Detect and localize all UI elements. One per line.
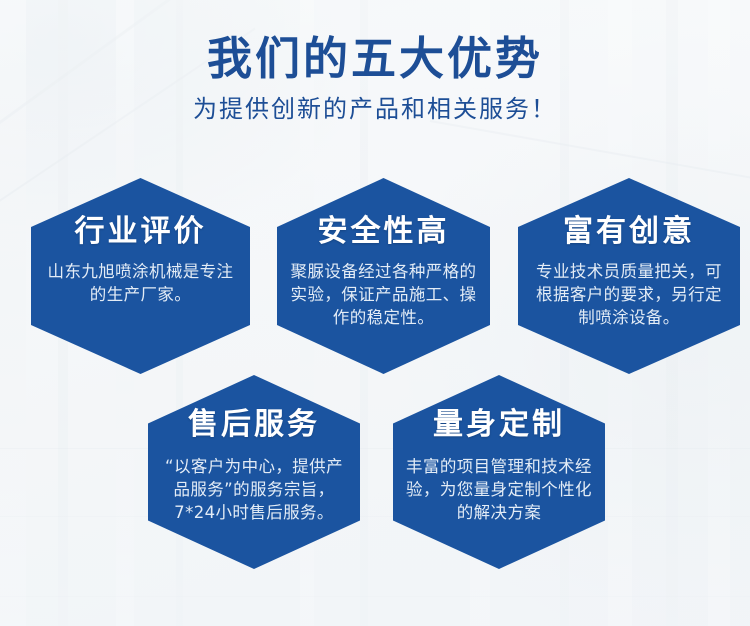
- advantage-hexagon-3[interactable]: 富有创意 专业技术员质量把关，可根据客户的要求，另行定制喷涂设备。: [518, 178, 740, 374]
- page-subtitle: 为提供创新的产品和相关服务！: [0, 96, 750, 122]
- page-title: 我们的五大优势: [0, 34, 750, 84]
- advantage-body: 聚脲设备经过各种严格的实验，保证产品施工、操作的稳定性。: [277, 260, 490, 330]
- advantage-title: 行业评价: [75, 216, 207, 248]
- advantage-body: “以客户为中心，提供产品服务”的服务宗旨，7*24小时售后服务。: [148, 455, 360, 525]
- advantage-title: 富有创意: [563, 216, 695, 248]
- advantage-body: 山东九旭喷涂机械是专注的生产厂家。: [31, 260, 250, 307]
- advantage-hexagon-5[interactable]: 量身定制 丰富的项目管理和技术经验，为您量身定制个性化的解决方案: [393, 375, 605, 569]
- advantage-hexagon-1[interactable]: 行业评价 山东九旭喷涂机械是专注的生产厂家。: [31, 178, 250, 374]
- advantage-hexagon-2[interactable]: 安全性高 聚脲设备经过各种严格的实验，保证产品施工、操作的稳定性。: [277, 178, 490, 374]
- advantages-section: 我们的五大优势 为提供创新的产品和相关服务！ 行业评价 山东九旭喷涂机械是专注的…: [0, 0, 750, 626]
- advantage-hexagon-4[interactable]: 售后服务 “以客户为中心，提供产品服务”的服务宗旨，7*24小时售后服务。: [148, 375, 360, 569]
- advantage-body: 专业技术员质量把关，可根据客户的要求，另行定制喷涂设备。: [518, 260, 740, 330]
- advantage-title: 安全性高: [318, 216, 450, 248]
- advantage-title: 售后服务: [188, 409, 320, 441]
- section-heading: 我们的五大优势 为提供创新的产品和相关服务！: [0, 34, 750, 122]
- advantage-body: 丰富的项目管理和技术经验，为您量身定制个性化的解决方案: [393, 455, 605, 525]
- advantage-title: 量身定制: [433, 409, 565, 441]
